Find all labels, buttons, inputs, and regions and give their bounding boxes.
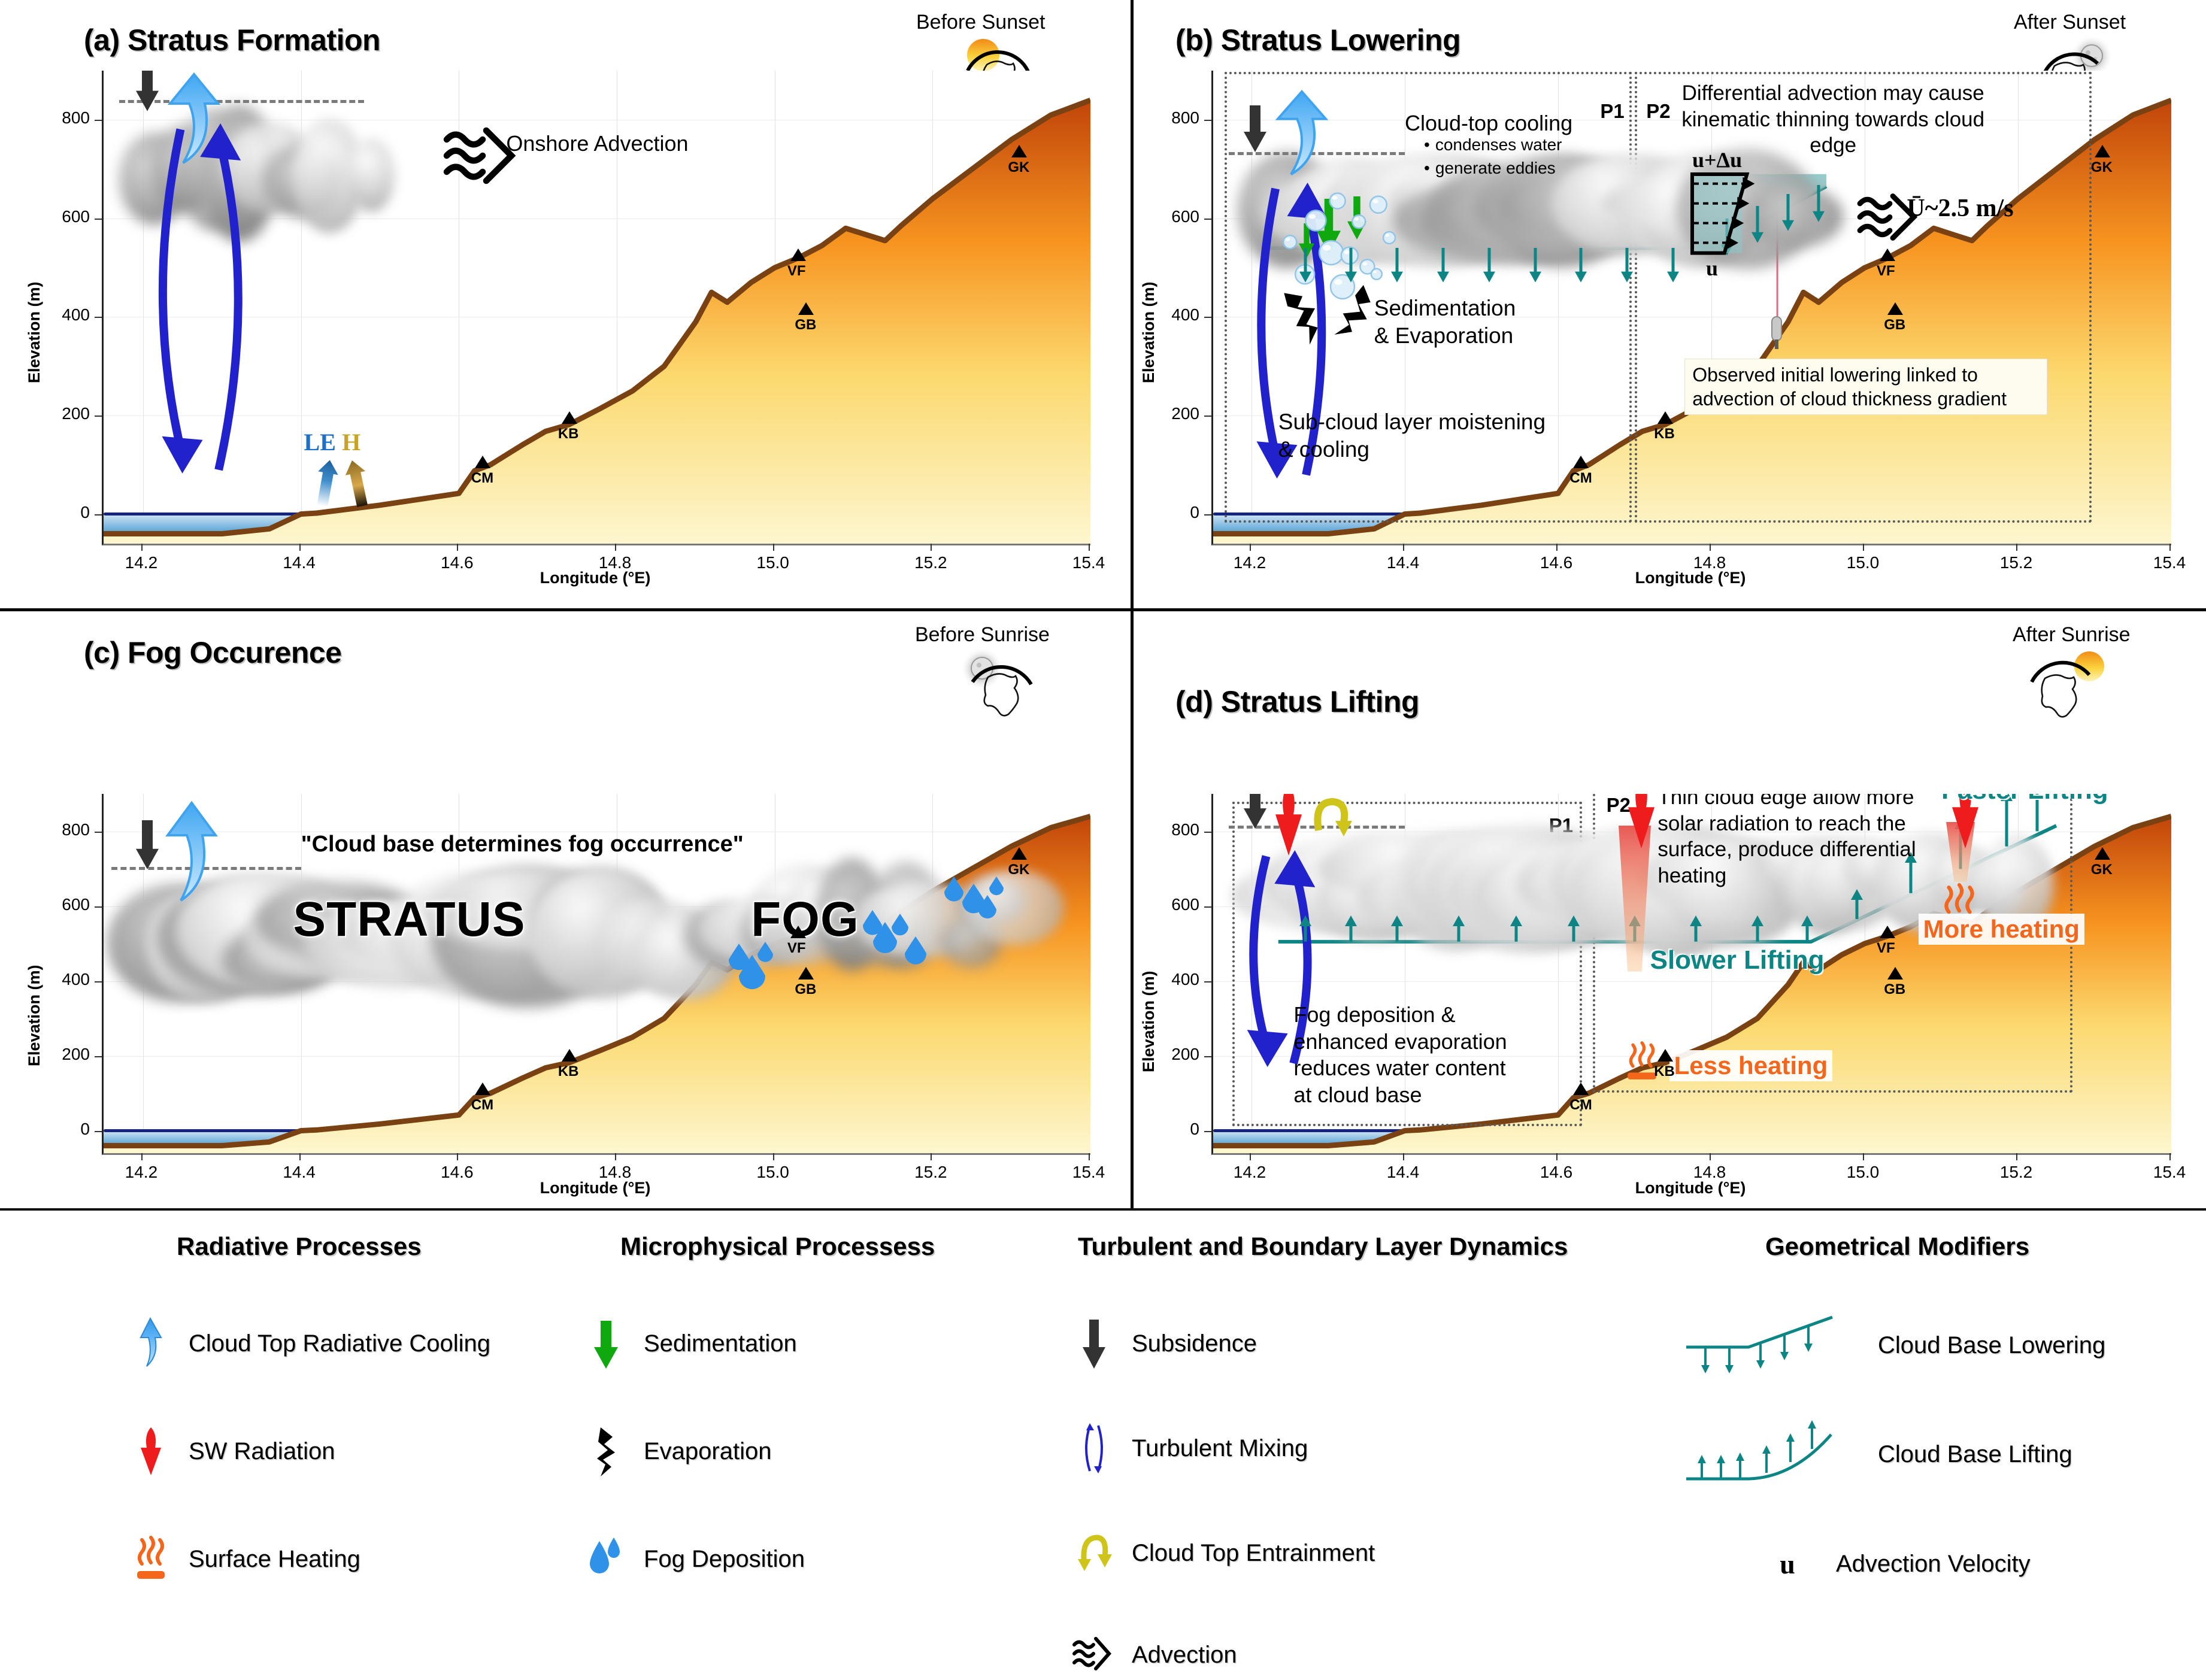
station-marker-gk: GK xyxy=(1011,145,1029,176)
x-tick-mark xyxy=(1863,1153,1864,1160)
station-triangle-icon xyxy=(1011,145,1027,157)
x-tick-label: 15.4 xyxy=(2134,553,2205,572)
faster-lifting-label: Faster Lifting xyxy=(1941,794,2108,805)
station-label: CM xyxy=(471,470,493,487)
x-tick-mark xyxy=(2016,544,2017,551)
cloud-base-lowering-arrow xyxy=(1389,248,1405,283)
y-tick-label: 200 xyxy=(12,1045,90,1064)
panel-a-time-tag: Before Sunset xyxy=(916,11,1045,34)
panel-d: (d) Stratus Lifting After Sunrise P1P2Fo… xyxy=(1134,611,2206,1208)
evaporation-icon xyxy=(584,1426,628,1476)
y-tick-label: 200 xyxy=(1122,404,1199,423)
legend-label: Advection xyxy=(1132,1642,1237,1669)
x-tick-label: 14.8 xyxy=(1674,1163,1746,1182)
cloud-top-cooling-bullet-2: •generate eddies xyxy=(1424,158,1675,179)
station-marker-vf: VF xyxy=(790,248,806,280)
station-label: CM xyxy=(1569,470,1592,487)
station-label: KB xyxy=(558,426,579,442)
sub-cloud-moistening-label: Sub-cloud layer moistening & cooling xyxy=(1278,408,1566,463)
station-label: GK xyxy=(1008,862,1029,878)
legend-item-cloud-top-radiative-cooling: Cloud Top Radiative Cooling xyxy=(129,1318,490,1369)
turbulent-mixing-icon xyxy=(1072,1423,1116,1473)
cloud-base-lifting-arrow xyxy=(1799,915,1815,942)
x-tick-label: 14.2 xyxy=(1214,1163,1286,1182)
x-tick-label: 14.8 xyxy=(1674,553,1746,572)
cloud-base-lowering-arrow xyxy=(1665,248,1681,283)
cloud-droplet-icon xyxy=(1382,231,1396,245)
y-tick-label: 0 xyxy=(12,503,90,522)
x-tick-label: 15.0 xyxy=(1827,553,1899,572)
station-marker-kb: KB xyxy=(1657,411,1675,442)
legend-label: Surface Heating xyxy=(189,1546,360,1573)
u-label: u xyxy=(1706,256,1718,281)
cloud-base-lifting-arrow xyxy=(1298,915,1313,942)
station-triangle-icon xyxy=(1573,1082,1589,1095)
panel-c-time-tag: Before Sunrise xyxy=(915,623,1050,647)
x-tick-mark xyxy=(615,1153,616,1160)
station-triangle-icon xyxy=(798,967,814,980)
station-label: GK xyxy=(2091,862,2113,878)
x-tick-label: 14.6 xyxy=(1520,553,1592,572)
panel-d-plot-area: P1P2Fog deposition & enhanced evaporatio… xyxy=(1211,794,2171,1155)
y-tick-label: 600 xyxy=(12,895,90,914)
sedimentation-icon xyxy=(584,1318,628,1369)
station-triangle-icon xyxy=(790,248,806,261)
station-marker-gb: GB xyxy=(1887,967,1905,998)
cloud-base-lowering-arrow xyxy=(1619,248,1635,283)
x-tick-label: 14.8 xyxy=(579,1163,651,1182)
station-marker-kb: KB xyxy=(562,1049,579,1080)
advection-icon xyxy=(1072,1630,1116,1680)
fog-deposition-icon xyxy=(944,877,963,902)
station-marker-vf: VF xyxy=(790,926,806,957)
panel-b-ylabel: Elevation (m) xyxy=(1140,281,1158,383)
legend-label: Cloud Base Lowering xyxy=(1878,1332,2105,1359)
y-tick-mark xyxy=(95,514,102,515)
moon-africa-icon xyxy=(957,648,1044,714)
y-tick-mark xyxy=(1204,219,1211,220)
turbulent-mixing-icon xyxy=(155,120,246,480)
y-tick-mark xyxy=(1204,416,1211,417)
observed-lowering-callout: Observed initial lowering linked to adve… xyxy=(1684,359,2047,415)
y-tick-label: 400 xyxy=(1122,970,1199,989)
x-tick-label: 14.4 xyxy=(1367,1163,1439,1182)
sw-radiation-icon xyxy=(1623,794,1659,848)
panel-b: (b) Stratus Lowering After Sunset P1P2Cl… xyxy=(1134,0,2206,608)
mean-wind-speed-label: Ū~2.5 m/s xyxy=(1907,194,2013,223)
station-marker-gb: GB xyxy=(1887,302,1905,333)
x-tick-mark xyxy=(931,1153,932,1160)
station-marker-gk: GK xyxy=(1011,847,1029,878)
station-label: CM xyxy=(1569,1097,1592,1114)
legend-label: Evaporation xyxy=(644,1438,771,1465)
x-tick-mark xyxy=(1863,544,1864,551)
fog-deposition-icon xyxy=(989,877,1004,895)
y-tick-mark xyxy=(95,832,102,833)
cloud-base-lifting-icon xyxy=(1683,1421,1862,1487)
cloud-base-lowering-arrow xyxy=(1811,185,1826,222)
legend-label: SW Radiation xyxy=(189,1438,335,1465)
station-triangle-icon xyxy=(562,1049,577,1062)
wind-shear-profile-icon xyxy=(1692,174,1772,253)
station-marker-gb: GB xyxy=(798,967,816,998)
station-label: VF xyxy=(787,263,806,280)
cloud-top-radiative-cooling-icon xyxy=(129,1318,173,1369)
x-tick-label: 15.0 xyxy=(737,553,809,572)
station-label: GB xyxy=(795,317,816,333)
panel-b-plot-area: P1P2Cloud-top cooling•condenses water•ge… xyxy=(1211,71,2171,545)
panel-c-plot-area: "Cloud base determines fog occurrence"ST… xyxy=(102,794,1090,1155)
x-tick-mark xyxy=(1403,1153,1404,1160)
y-tick-mark xyxy=(95,981,102,982)
subsidence-arrow-icon xyxy=(136,820,160,869)
cloud-droplet-icon xyxy=(1351,214,1366,229)
cloud-base-lowering-arrow xyxy=(1298,248,1313,283)
legend-item-advection-velocity: u Advection Velocity xyxy=(1755,1539,2031,1589)
y-tick-label: 800 xyxy=(12,820,90,839)
y-tick-label: 800 xyxy=(1122,820,1199,839)
panel-a-ylabel: Elevation (m) xyxy=(25,281,44,383)
x-tick-label: 14.8 xyxy=(579,553,651,572)
cloud-top-entrainment-icon xyxy=(1072,1528,1116,1578)
cloud-base-lifting-arrow xyxy=(1566,915,1581,942)
cloud-top-radiative-cooling-icon xyxy=(160,802,226,900)
cloud-base-lifting-arrow xyxy=(1508,915,1524,942)
ceilometer-icon xyxy=(1769,317,1784,353)
evaporation-icon xyxy=(1292,283,1381,348)
y-tick-mark xyxy=(95,219,102,220)
x-tick-mark xyxy=(457,544,458,551)
legend: Radiative Processes Cloud Top Radiative … xyxy=(0,1211,2206,1518)
legend-item-subsidence: Subsidence xyxy=(1072,1318,1257,1369)
cloud-base-lowering-icon xyxy=(1683,1312,1862,1378)
cloud-base-lifting-arrow xyxy=(1849,889,1865,919)
legend-label: Cloud Top Radiative Cooling xyxy=(189,1330,490,1357)
x-tick-mark xyxy=(141,1153,143,1160)
x-tick-mark xyxy=(2016,1153,2017,1160)
fog-deposition-note: Fog deposition & enhanced evaporation re… xyxy=(1293,1002,1533,1109)
cloud-base-lifting-arrow xyxy=(1750,915,1765,942)
y-tick-label: 0 xyxy=(12,1120,90,1139)
fog-deposition-icon xyxy=(905,936,926,965)
x-tick-label: 14.4 xyxy=(1367,553,1439,572)
y-tick-label: 200 xyxy=(1122,1045,1199,1064)
x-tick-mark xyxy=(1250,544,1251,551)
station-label: GB xyxy=(1884,981,1905,998)
station-marker-gk: GK xyxy=(2095,847,2113,878)
cloud-droplet-icon xyxy=(1370,268,1383,281)
panel-d-title: (d) Stratus Lifting xyxy=(1175,684,1419,719)
subsidence-arrow-icon xyxy=(136,71,160,111)
station-marker-gk: GK xyxy=(2095,145,2113,176)
x-tick-label: 14.2 xyxy=(105,553,177,572)
x-tick-label: 15.0 xyxy=(737,1163,809,1182)
legend-label: Cloud Base Lifting xyxy=(1878,1441,2072,1468)
legend-group-title-geometrical: Geometrical Modifiers xyxy=(1765,1232,2029,1261)
station-marker-cm: CM xyxy=(475,456,493,487)
x-tick-mark xyxy=(1250,1153,1251,1160)
x-tick-label: 14.4 xyxy=(263,1163,335,1182)
x-tick-mark xyxy=(1710,1153,1711,1160)
cloud-base-lifting-arrow xyxy=(1389,915,1405,942)
subsidence-arrow-icon xyxy=(1244,105,1268,152)
advection-velocity-icon: u xyxy=(1755,1539,1820,1589)
x-tick-label: 15.0 xyxy=(1827,1163,1899,1182)
x-tick-label: 15.4 xyxy=(1053,1163,1125,1182)
cloud-base-lowering-arrow xyxy=(1573,248,1589,283)
x-tick-mark xyxy=(299,1153,301,1160)
station-triangle-icon xyxy=(475,456,490,468)
legend-label: Cloud Top Entrainment xyxy=(1132,1540,1375,1567)
x-tick-mark xyxy=(1089,544,1090,551)
onshore-advection-label: Onshore Advection xyxy=(506,131,757,157)
panel-a-title: (a) Stratus Formation xyxy=(84,23,380,57)
cloud-base-lifting-arrow xyxy=(1688,915,1704,942)
x-tick-mark xyxy=(773,544,774,551)
y-tick-mark xyxy=(95,1131,102,1132)
cloud-base-lowering-arrow xyxy=(1435,248,1451,283)
panel-d-time-tag: After Sunrise xyxy=(2013,623,2131,647)
station-label: GB xyxy=(795,981,816,998)
panel-b-title: (b) Stratus Lowering xyxy=(1175,23,1460,57)
station-triangle-icon xyxy=(562,411,577,424)
y-tick-mark xyxy=(95,906,102,908)
panel-a-plot-area: Onshore AdvectionLEHCMKBGBVFGK xyxy=(102,71,1090,545)
station-triangle-icon xyxy=(790,926,806,938)
y-tick-mark xyxy=(1204,832,1211,833)
station-triangle-icon xyxy=(1887,302,1903,315)
legend-label: Subsidence xyxy=(1132,1330,1257,1357)
x-tick-label: 15.2 xyxy=(895,1163,966,1182)
station-label: VF xyxy=(1876,263,1895,280)
cloud-droplet-icon xyxy=(1368,195,1389,215)
y-tick-label: 800 xyxy=(1122,108,1199,128)
fog-quote-label: "Cloud base determines fog occurrence" xyxy=(301,832,744,857)
sensible-heat-flux-label: H xyxy=(342,428,360,456)
x-tick-mark xyxy=(615,544,616,551)
cloud-top-cooling-label: Cloud-top cooling xyxy=(1405,110,1656,137)
cloud-droplet-icon xyxy=(1328,192,1347,210)
x-tick-label: 14.6 xyxy=(421,553,493,572)
legend-item-cloud-base-lowering: Cloud Base Lowering xyxy=(1683,1312,2105,1378)
y-tick-mark xyxy=(1204,906,1211,908)
station-label: GB xyxy=(1884,317,1905,333)
y-tick-label: 800 xyxy=(12,108,90,128)
less-heating-label: Less heating xyxy=(1669,1050,1833,1081)
station-marker-vf: VF xyxy=(1880,248,1895,280)
fog-deposition-icon xyxy=(892,914,908,935)
station-triangle-icon xyxy=(1657,1049,1673,1062)
x-tick-label: 15.4 xyxy=(1053,553,1125,572)
x-tick-mark xyxy=(1403,544,1404,551)
y-tick-label: 600 xyxy=(1122,895,1199,914)
cloud-base-lowering-arrow xyxy=(1528,248,1543,283)
y-tick-label: 200 xyxy=(12,404,90,423)
legend-item-surface-heating: Surface Heating xyxy=(129,1534,360,1584)
stratus-label: STRATUS xyxy=(293,891,525,948)
x-tick-mark xyxy=(931,544,932,551)
legend-label: Advection Velocity xyxy=(1836,1551,2031,1578)
station-triangle-icon xyxy=(2095,145,2110,157)
x-tick-mark xyxy=(1556,544,1557,551)
station-label: GK xyxy=(2091,159,2113,176)
station-marker-vf: VF xyxy=(1880,926,1895,957)
y-tick-label: 400 xyxy=(12,970,90,989)
station-triangle-icon xyxy=(2095,847,2110,860)
x-tick-mark xyxy=(1710,544,1711,551)
x-tick-mark xyxy=(457,1153,458,1160)
sedimentation-evaporation-label: Sedimentation & Evaporation xyxy=(1374,295,1632,350)
x-tick-label: 15.2 xyxy=(1980,553,2052,572)
x-tick-mark xyxy=(141,544,143,551)
thin-cloud-edge-note: Thin cloud edge allow more solar radiati… xyxy=(1657,794,1975,888)
x-tick-label: 14.6 xyxy=(1520,1163,1592,1182)
panel-c: (c) Fog Occurence Before Sunrise "Cloud … xyxy=(0,611,1131,1208)
x-tick-mark xyxy=(773,1153,774,1160)
cloud-puff xyxy=(349,138,395,212)
legend-item-advection: Advection xyxy=(1072,1630,1237,1680)
x-tick-label: 14.2 xyxy=(1214,553,1286,572)
station-label: KB xyxy=(558,1063,579,1080)
y-tick-mark xyxy=(95,416,102,417)
station-marker-gb: GB xyxy=(798,302,816,333)
x-tick-label: 15.4 xyxy=(2134,1163,2205,1182)
fog-deposition-icon xyxy=(978,895,996,918)
panel-c-title: (c) Fog Occurence xyxy=(84,635,342,670)
y-tick-mark xyxy=(1204,120,1211,121)
subsidence-arrow-icon xyxy=(1244,794,1268,829)
legend-label: Turbulent Mixing xyxy=(1132,1435,1308,1462)
station-marker-cm: CM xyxy=(1573,1082,1592,1114)
cloud-droplet-icon xyxy=(1282,234,1298,250)
x-tick-label: 14.6 xyxy=(421,1163,493,1182)
y-tick-label: 0 xyxy=(1122,1120,1199,1139)
latent-heat-flux-label: LE xyxy=(304,428,336,456)
legend-group-title-microphysical: Microphysical Processess xyxy=(620,1232,935,1261)
y-tick-label: 600 xyxy=(12,207,90,226)
sunrise-africa-icon xyxy=(2025,648,2114,714)
x-tick-mark xyxy=(2169,544,2171,551)
station-triangle-icon xyxy=(1880,248,1895,261)
cloud-top-radiative-cooling-icon xyxy=(1271,90,1337,174)
y-tick-mark xyxy=(1204,514,1211,515)
x-tick-mark xyxy=(2169,1153,2171,1160)
legend-item-evaporation: Evaporation xyxy=(584,1426,771,1476)
station-triangle-icon xyxy=(798,302,814,315)
y-tick-mark xyxy=(95,1056,102,1057)
station-triangle-icon xyxy=(475,1082,490,1095)
station-marker-cm: CM xyxy=(475,1082,493,1114)
station-triangle-icon xyxy=(1880,926,1895,938)
panel-a: (a) Stratus Formation Before Sunset Onsh… xyxy=(0,0,1131,608)
y-tick-mark xyxy=(1204,1056,1211,1057)
legend-item-turbulent-mixing: Turbulent Mixing xyxy=(1072,1423,1308,1473)
surface-heating-icon xyxy=(129,1534,173,1584)
surface-flux-arrows-icon xyxy=(315,455,387,527)
figure-root: (a) Stratus Formation Before Sunset Onsh… xyxy=(0,0,2206,1518)
x-tick-mark xyxy=(299,544,301,551)
y-tick-label: 400 xyxy=(1122,305,1199,325)
slower-lifting-label: Slower Lifting xyxy=(1650,945,1825,975)
x-tick-mark xyxy=(1556,1153,1557,1160)
cloud-top-cooling-bullet-1: •condenses water xyxy=(1424,135,1675,156)
station-triangle-icon xyxy=(1887,967,1903,980)
cloud-base-lowering-arrow xyxy=(1343,248,1359,283)
station-label: KB xyxy=(1654,426,1675,442)
station-marker-kb: KB xyxy=(562,411,579,442)
differential-advection-label: Differential advection may cause kinemat… xyxy=(1665,80,2001,158)
station-triangle-icon xyxy=(1573,456,1589,468)
y-tick-mark xyxy=(1204,981,1211,982)
station-triangle-icon xyxy=(1657,411,1673,424)
cloud-base-lowering-arrow xyxy=(1780,194,1796,231)
legend-item-fog-deposition: Fog Deposition xyxy=(584,1534,805,1584)
legend-label: Sedimentation xyxy=(644,1330,797,1357)
station-label: GK xyxy=(1008,159,1029,176)
more-heating-label: More heating xyxy=(1919,914,2084,945)
cloud-base-lifting-arrow xyxy=(1343,915,1359,942)
station-label: VF xyxy=(1876,940,1895,957)
y-tick-label: 0 xyxy=(1122,503,1199,522)
legend-label: Fog Deposition xyxy=(644,1546,805,1573)
cloud-droplet-icon xyxy=(1304,208,1328,233)
fog-deposition-icon xyxy=(757,942,773,962)
y-tick-mark xyxy=(1204,1131,1211,1132)
x-tick-mark xyxy=(1089,1153,1090,1160)
fog-deposition-icon xyxy=(584,1534,628,1584)
y-tick-mark xyxy=(95,120,102,121)
station-label: KB xyxy=(1654,1063,1675,1080)
sw-radiation-icon xyxy=(129,1426,173,1476)
x-tick-label: 14.4 xyxy=(263,553,335,572)
station-marker-kb: KB xyxy=(1657,1049,1675,1080)
subsidence-icon xyxy=(1072,1318,1116,1369)
station-label: CM xyxy=(471,1097,493,1114)
panel-b-time-tag: After Sunset xyxy=(2014,11,2126,34)
cloud-top-entrainment-icon xyxy=(1309,794,1357,842)
legend-group-title-radiative: Radiative Processes xyxy=(177,1232,422,1261)
legend-item-cloud-base-lifting: Cloud Base Lifting xyxy=(1683,1421,2072,1487)
station-marker-cm: CM xyxy=(1573,456,1592,487)
cloud-base-lowering-arrow xyxy=(1481,248,1497,283)
y-tick-mark xyxy=(95,317,102,318)
x-tick-label: 15.2 xyxy=(1980,1163,2052,1182)
legend-item-sw-radiation: SW Radiation xyxy=(129,1426,335,1476)
y-tick-mark xyxy=(1204,317,1211,318)
x-tick-label: 14.2 xyxy=(105,1163,177,1182)
y-tick-label: 400 xyxy=(12,305,90,325)
legend-item-sedimentation: Sedimentation xyxy=(584,1318,797,1369)
cloud-base-lifting-arrow xyxy=(1451,915,1466,942)
y-tick-label: 600 xyxy=(1122,207,1199,226)
station-triangle-icon xyxy=(1011,847,1027,860)
legend-group-title-turbulent: Turbulent and Boundary Layer Dynamics xyxy=(1078,1232,1568,1261)
x-tick-label: 15.2 xyxy=(895,553,966,572)
station-label: VF xyxy=(787,940,806,957)
legend-item-cloud-top-entrainment: Cloud Top Entrainment xyxy=(1072,1528,1375,1578)
